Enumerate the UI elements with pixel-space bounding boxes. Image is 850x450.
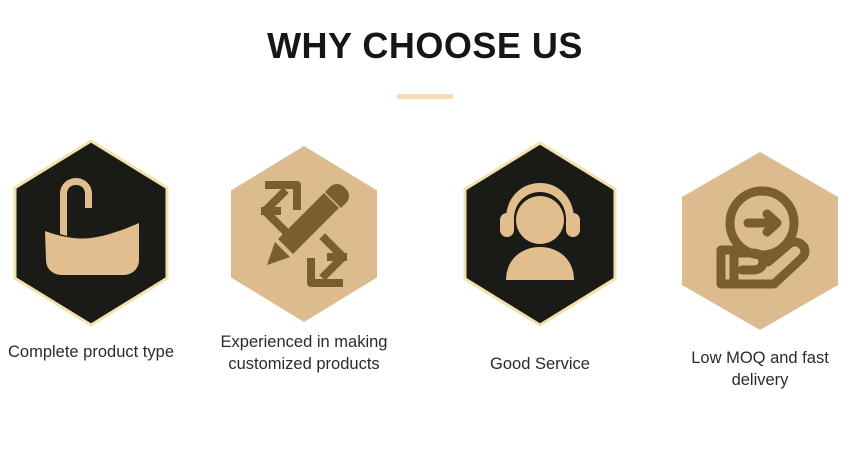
feature-list: Complete product type bbox=[0, 138, 850, 438]
feature-item-customized-products[interactable]: Experienced in making customized product… bbox=[197, 138, 411, 376]
feature-caption: Low MOQ and fast delivery bbox=[672, 348, 848, 392]
hexagon-badge-2 bbox=[229, 144, 379, 324]
hexagon-badge-3 bbox=[462, 140, 618, 328]
pencil-ruler-icon bbox=[229, 144, 379, 324]
bathtub-icon bbox=[12, 138, 170, 328]
feature-item-good-service[interactable]: Good Service bbox=[455, 138, 625, 376]
feature-item-low-moq-fast-delivery[interactable]: Low MOQ and fast delivery bbox=[665, 138, 850, 392]
hand-delivery-arrow-icon bbox=[680, 150, 840, 332]
page-title: WHY CHOOSE US bbox=[0, 26, 850, 66]
feature-item-complete-product-type[interactable]: Complete product type bbox=[0, 138, 182, 364]
feature-caption: Complete product type bbox=[2, 342, 180, 364]
feature-caption: Good Service bbox=[455, 354, 625, 376]
why-choose-us-section: WHY CHOOSE US C bbox=[0, 0, 850, 450]
hexagon-badge-1 bbox=[12, 138, 170, 328]
section-header: WHY CHOOSE US bbox=[0, 26, 850, 99]
hexagon-badge-4 bbox=[680, 150, 840, 332]
headset-agent-icon bbox=[462, 140, 618, 328]
feature-caption: Experienced in making customized product… bbox=[197, 332, 411, 376]
title-divider bbox=[397, 94, 453, 99]
